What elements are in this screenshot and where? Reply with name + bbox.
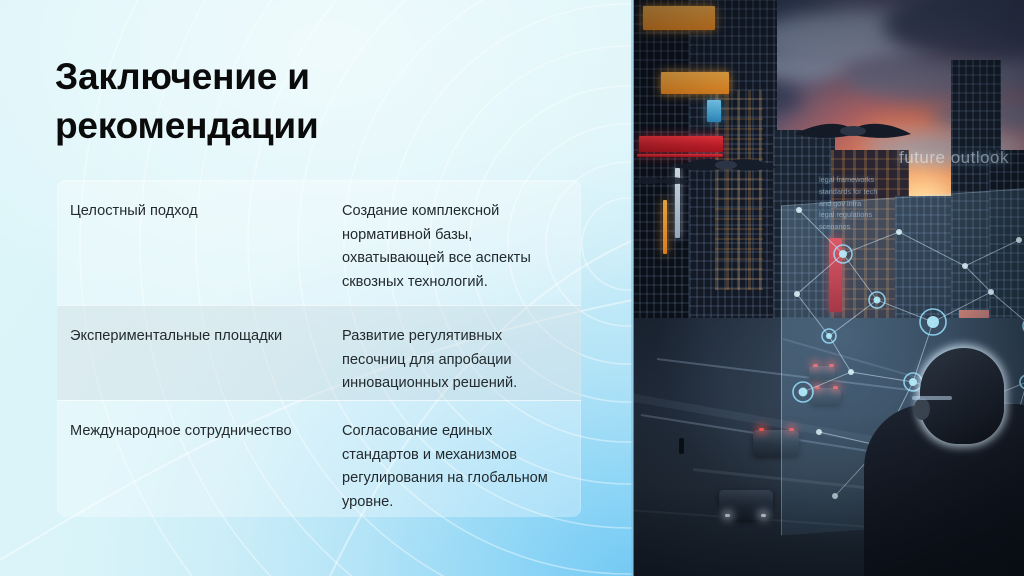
row-description: Создание комплексной нормативной базы, о… [342,200,559,295]
row-description: Развитие регулятивных песочниц для апроб… [342,325,559,396]
glasses-icon [912,396,952,400]
row-description: Согласование единых стандартов и механиз… [342,420,559,515]
row-label: Целостный подход [70,200,342,224]
panel-seam [631,0,634,576]
drone-icon [793,115,913,149]
row-label: Экспериментальные площадки [70,325,342,349]
left-content-panel: Заключение и рекомендации Целостный подх… [0,0,633,576]
recommendations-table: Целостный подход Создание комплексной но… [57,180,581,517]
cityscape-photo: future outlook legal frameworks standard… [633,0,1024,576]
person-silhouette [864,356,1024,576]
table-row: Международное сотрудничество Согласовани… [57,400,581,517]
slide: Заключение и рекомендации Целостный подх… [0,0,1024,576]
table-row: Целостный подход Создание комплексной но… [57,180,581,305]
row-label: Международное сотрудничество [70,420,342,444]
table-row: Экспериментальные площадки Развитие регу… [57,305,581,400]
page-title: Заключение и рекомендации [55,52,475,150]
drone-icon [633,172,693,190]
